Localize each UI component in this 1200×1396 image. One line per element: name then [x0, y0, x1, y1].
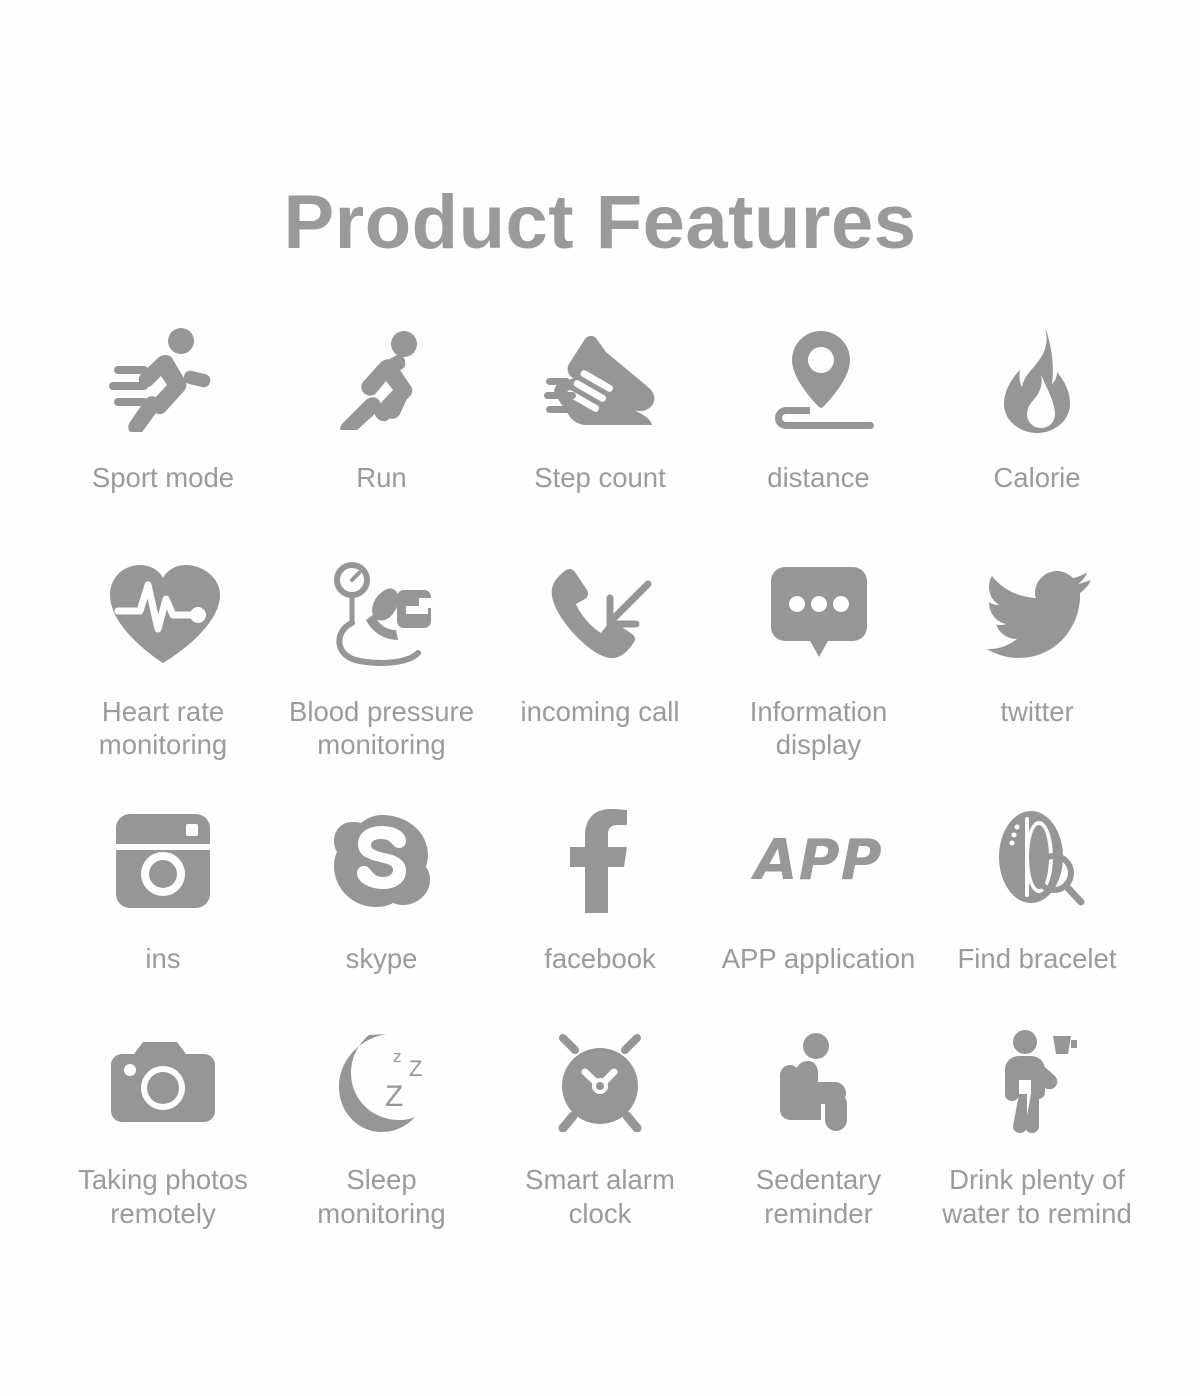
feature-label: twitter — [1000, 695, 1073, 729]
feature-label: Smart alarm clock — [492, 1163, 708, 1230]
svg-text:z: z — [393, 1047, 402, 1066]
feature-label: Sleep monitoring — [317, 1163, 445, 1230]
running-person-speed-icon — [108, 321, 218, 439]
feature-label: facebook — [544, 942, 656, 976]
product-features-page: Product Features Sport mode — [0, 0, 1200, 1396]
feature-heart-rate-monitoring: Heart rate monitoring — [55, 555, 271, 762]
feature-facebook: facebook — [492, 802, 708, 976]
feature-run: Run — [274, 321, 490, 495]
incoming-call-icon — [548, 555, 652, 673]
feature-sport-mode: Sport mode — [55, 321, 271, 495]
feature-find-bracelet: Find bracelet — [929, 802, 1145, 976]
feature-step-count: Step count — [492, 321, 708, 495]
features-row: Sport mode Run — [55, 321, 1145, 495]
feature-label: Blood pressure monitoring — [289, 695, 474, 762]
feature-label: Sedentary reminder — [756, 1163, 881, 1230]
feature-label: incoming call — [521, 695, 680, 729]
seated-person-icon — [778, 1023, 860, 1141]
feature-label: skype — [346, 942, 418, 976]
facebook-icon — [570, 802, 630, 920]
svg-text:Z: Z — [385, 1080, 403, 1113]
bracelet-magnifier-icon — [987, 802, 1087, 920]
skype-icon — [334, 802, 430, 920]
app-text-icon: APP — [754, 802, 882, 920]
feature-calorie: Calorie — [929, 321, 1145, 495]
crescent-moon-zzz-icon: z Z Z — [327, 1023, 437, 1141]
sneaker-shoe-icon — [544, 321, 656, 439]
heart-pulse-icon — [106, 555, 220, 673]
feature-taking-photos-remotely: Taking photos remotely — [55, 1023, 271, 1230]
twitter-bird-icon — [984, 555, 1090, 673]
camera-icon — [111, 1023, 215, 1141]
feature-label: Information display — [750, 695, 888, 762]
features-row: ins skype facebook — [55, 802, 1145, 976]
feature-label: Sport mode — [92, 461, 234, 495]
app-text-label: APP — [754, 828, 882, 893]
feature-label: ins — [145, 942, 180, 976]
alarm-clock-icon — [549, 1023, 651, 1141]
flame-icon — [998, 321, 1076, 439]
blood-pressure-monitor-icon — [327, 555, 437, 673]
feature-information-display: Information display — [711, 555, 927, 762]
features-row: Heart rate monitoring — [55, 555, 1145, 762]
running-person-icon — [332, 321, 432, 439]
feature-incoming-call: incoming call — [492, 555, 708, 729]
feature-label: distance — [767, 461, 869, 495]
features-grid: Sport mode Run — [0, 321, 1200, 1230]
feature-label: Calorie — [993, 461, 1080, 495]
feature-blood-pressure-monitoring: Blood pressure monitoring — [274, 555, 490, 762]
feature-distance: distance — [711, 321, 927, 495]
feature-sleep-monitoring: z Z Z Sleep monitoring — [274, 1023, 490, 1230]
feature-twitter: twitter — [929, 555, 1145, 729]
feature-label: Taking photos remotely — [78, 1163, 248, 1230]
speech-bubble-dots-icon — [771, 555, 867, 673]
feature-sedentary-reminder: Sedentary reminder — [711, 1023, 927, 1230]
feature-label: Find bracelet — [958, 942, 1117, 976]
feature-skype: skype — [274, 802, 490, 976]
feature-smart-alarm-clock: Smart alarm clock — [492, 1023, 708, 1230]
feature-label: Step count — [534, 461, 665, 495]
feature-label: APP application — [722, 942, 916, 976]
feature-label: Heart rate monitoring — [99, 695, 227, 762]
features-row: Taking photos remotely z Z Z Sleep monit… — [55, 1023, 1145, 1230]
instagram-camera-icon — [116, 802, 210, 920]
person-drinking-icon — [995, 1023, 1079, 1141]
svg-text:Z: Z — [409, 1056, 422, 1081]
feature-ins: ins — [55, 802, 271, 976]
feature-app-application: APP APP application — [711, 802, 927, 976]
page-title: Product Features — [0, 0, 1200, 261]
map-pin-road-icon — [764, 321, 874, 439]
feature-label: Drink plenty of water to remind — [942, 1163, 1132, 1230]
feature-label: Run — [356, 461, 406, 495]
feature-drink-water-reminder: Drink plenty of water to remind — [929, 1023, 1145, 1230]
